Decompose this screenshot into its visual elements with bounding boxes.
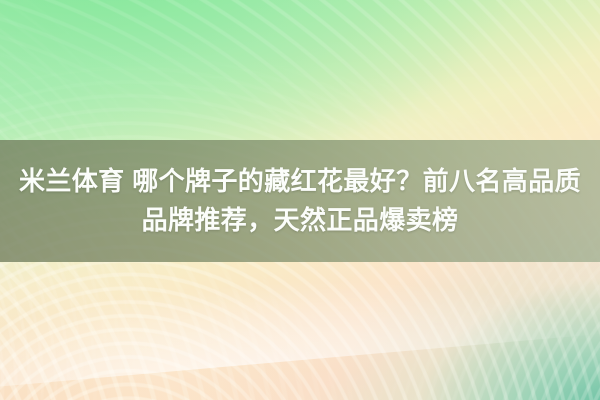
promo-banner: 米兰体育 哪个牌子的藏红花最好？前八名高品质 品牌推荐，天然正品爆卖榜 [0, 0, 600, 400]
caption-line-2: 品牌推荐，天然正品爆卖榜 [142, 201, 459, 240]
caption-band: 米兰体育 哪个牌子的藏红花最好？前八名高品质 品牌推荐，天然正品爆卖榜 [0, 140, 600, 262]
caption-line-1: 米兰体育 哪个牌子的藏红花最好？前八名高品质 [19, 162, 581, 201]
